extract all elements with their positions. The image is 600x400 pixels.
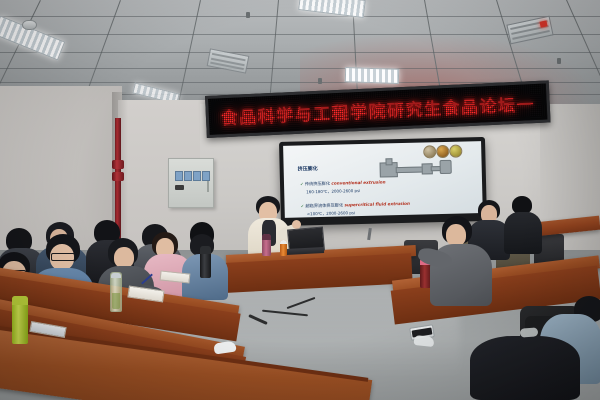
smoke-detector-icon — [22, 20, 37, 30]
panel-handle-icon — [207, 181, 209, 192]
standpipe-flange — [112, 160, 124, 169]
bullet-en-text: conventional extrusion — [331, 179, 385, 185]
green-water-bottle — [12, 296, 28, 344]
lecture-room-photo: 食品科学与工程学院研究生食品论坛一 挤压膨化 ✓ 传统挤压膨化 conventi… — [0, 0, 600, 400]
slide-bullet: ✓ 传统挤压膨化 conventional extrusion — [300, 179, 386, 187]
check-icon: ✓ — [300, 181, 304, 186]
panel-dial-icon — [175, 185, 184, 190]
slide-content: 挤压膨化 ✓ 传统挤压膨化 conventional extrusion 160… — [283, 141, 483, 218]
standpipe-flange — [112, 172, 124, 181]
bullet-cn-text: 超临界流体挤压膨化 — [305, 202, 343, 208]
slide-title: 挤压膨化 — [298, 165, 318, 172]
bullet-en-text: supercritical fluid extrusion — [344, 201, 410, 208]
orange-bottle — [280, 240, 287, 256]
glasses-icon — [51, 253, 75, 261]
sprinkler-head-icon — [246, 12, 250, 18]
fluorescent-light-fixture — [345, 67, 399, 84]
slide-bullet-conditions: <100℃，2000-2600 psi — [307, 210, 355, 217]
check-icon: ✓ — [301, 203, 305, 208]
sprinkler-head-icon — [557, 58, 561, 64]
slide-bullet: ✓ 超临界流体挤压膨化 supercritical fluid extrusio… — [301, 201, 411, 210]
slide-bullet-conditions: 160-180℃，2000-2600 psi — [306, 188, 360, 195]
pink-thermos — [262, 234, 271, 256]
shoe — [414, 335, 435, 347]
bullet-cn-text: 传统挤压膨化 — [305, 181, 330, 187]
glass-tea-bottle — [110, 272, 122, 312]
black-thermos — [200, 246, 211, 278]
electrical-panel[interactable] — [168, 158, 214, 208]
shoe — [520, 327, 539, 337]
sprinkler-head-icon — [318, 78, 322, 84]
extruder-diagram — [379, 157, 451, 179]
presentation-display: 挤压膨化 ✓ 传统挤压膨化 conventional extrusion 160… — [279, 137, 487, 226]
